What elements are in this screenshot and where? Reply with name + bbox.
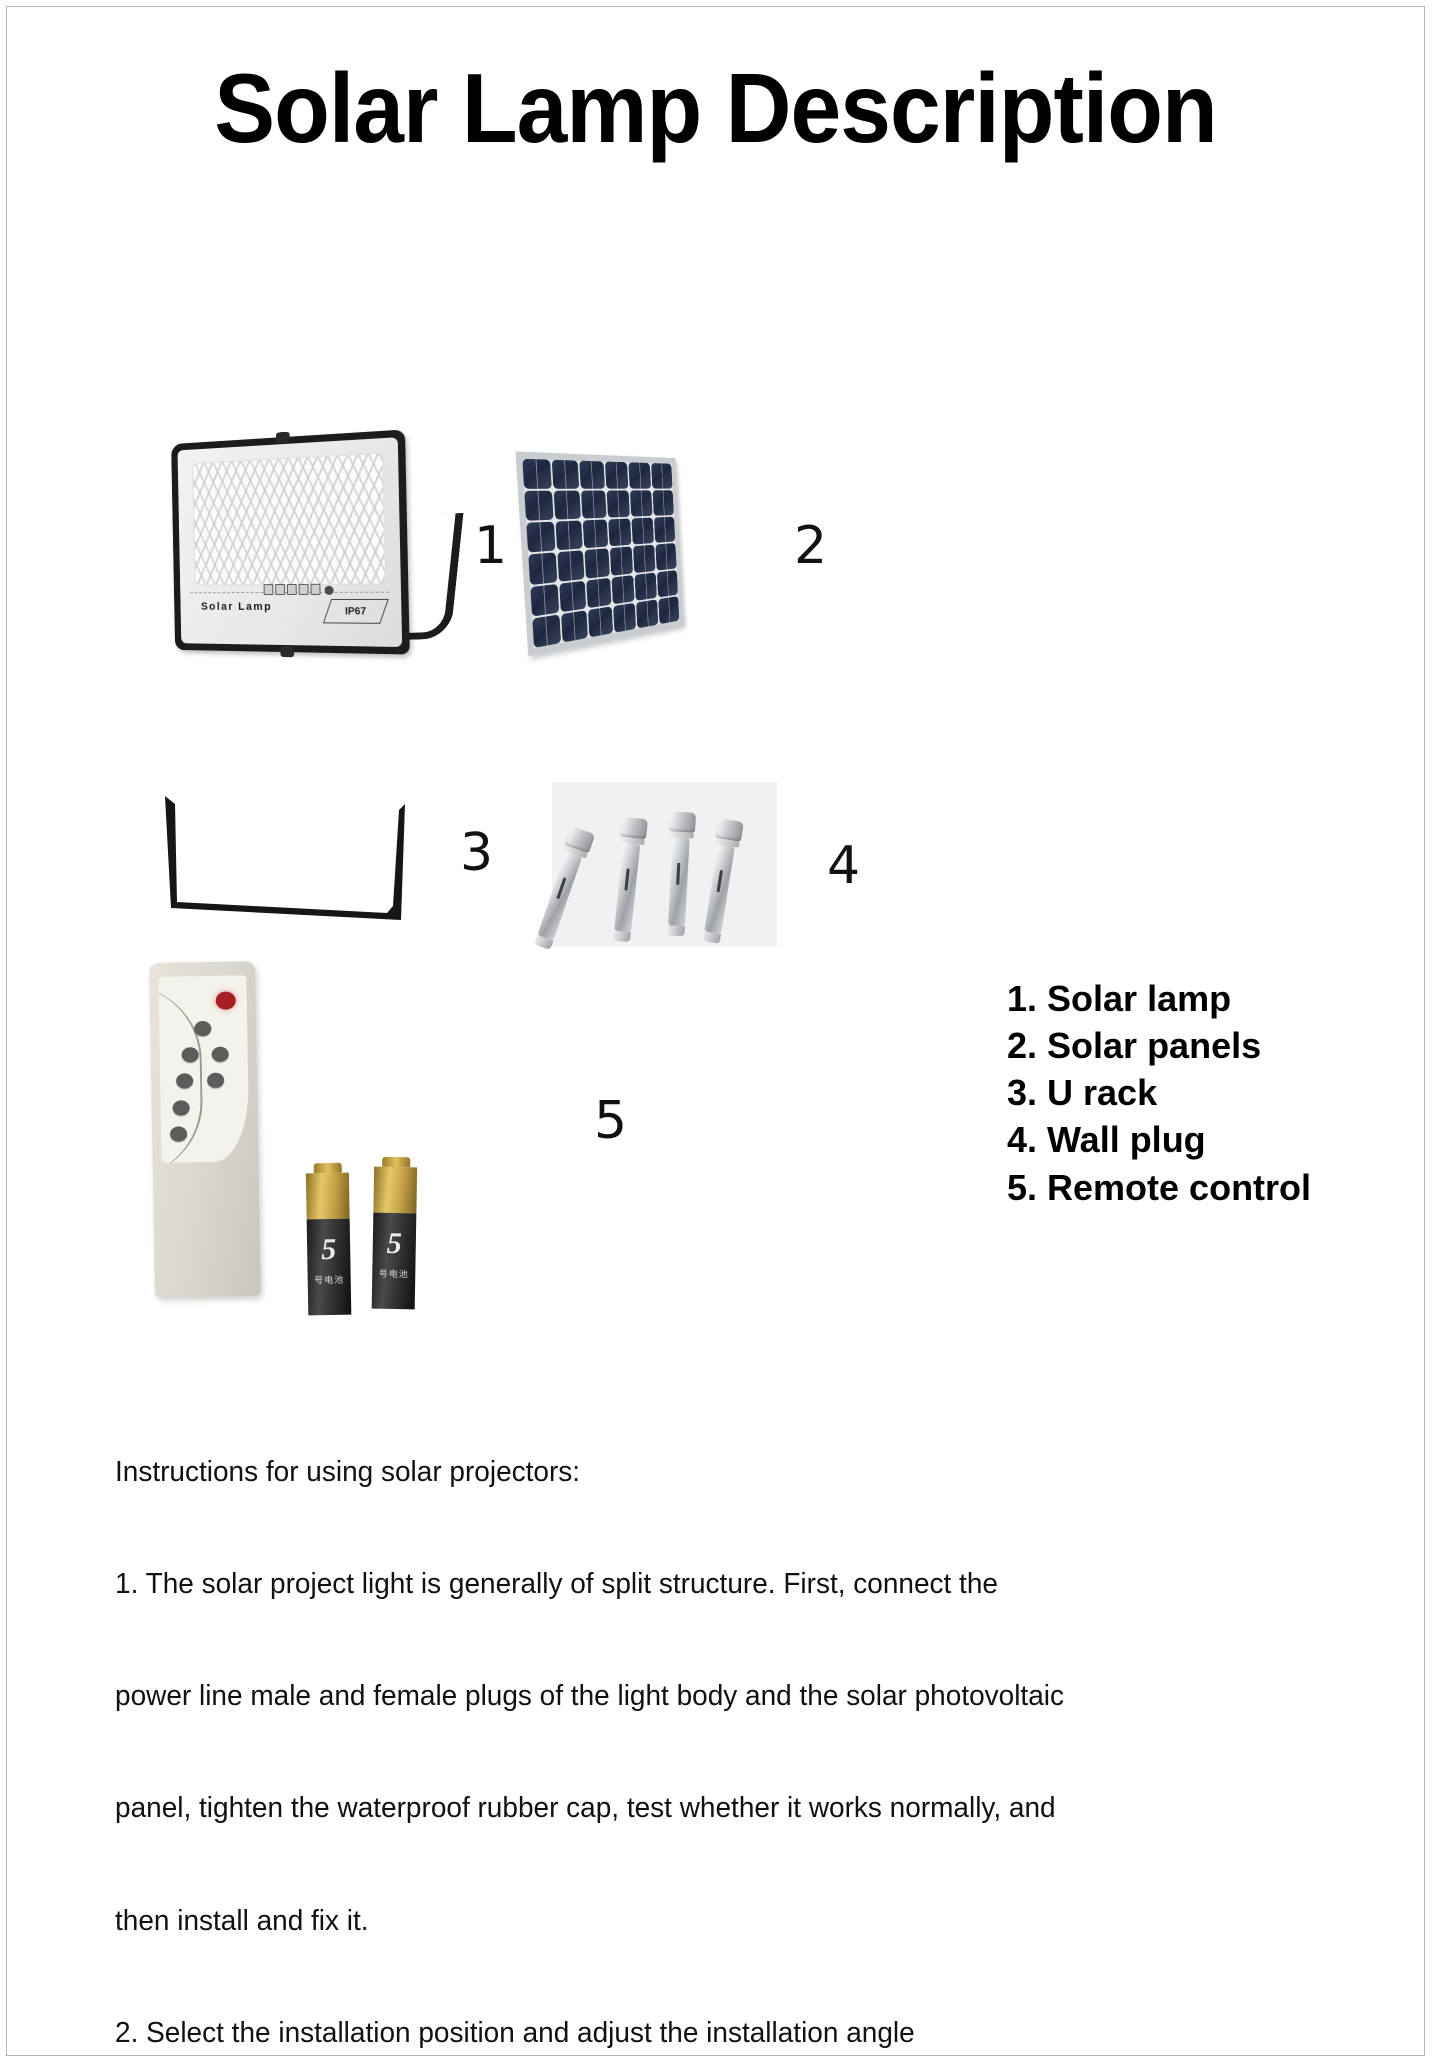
bolt-shaft: [537, 852, 582, 941]
battery-size-mark: 5: [373, 1229, 417, 1260]
solar-cell: [557, 551, 584, 582]
bolt-head: [619, 817, 647, 840]
remote-button: [194, 1021, 211, 1036]
solar-cell: [633, 545, 655, 573]
instructions-line: panel, tighten the waterproof rubber cap…: [115, 1790, 1326, 1827]
battery: 5 号电池: [306, 1163, 352, 1316]
solar-cell: [609, 547, 633, 576]
parts-legend-list: 1. Solar lamp 2. Solar panels 3. U rack …: [1007, 975, 1311, 1211]
battery-sub-mark: 号电池: [372, 1267, 415, 1281]
solar-cell: [630, 490, 653, 516]
instructions-line: 1. The solar project light is generally …: [115, 1566, 1326, 1603]
battery: 5 号电池: [372, 1157, 418, 1310]
solar-cell: [561, 610, 588, 642]
battery-gold-section: [306, 1173, 350, 1220]
battery-size-mark: 5: [307, 1235, 351, 1266]
solar-cell: [555, 521, 582, 551]
bolt-tip: [668, 925, 686, 936]
bolt-tip: [613, 930, 631, 942]
remote-button: [207, 1073, 224, 1088]
figure-label-4: 4: [827, 840, 860, 892]
battery-indicator-50-icon: [275, 584, 285, 595]
u-rack-image: [147, 782, 407, 932]
instructions-block: Instructions for using solar projectors:…: [115, 1379, 1326, 2056]
lamp-screw-bottom-icon: [280, 646, 294, 657]
solar-cell: [605, 462, 629, 489]
solar-cell: [559, 580, 586, 612]
instructions-line: then install and fix it.: [115, 1903, 1326, 1940]
remote-control-body: [149, 961, 261, 1298]
solar-cell: [611, 575, 635, 604]
battery-dark-section: 5 号电池: [372, 1213, 417, 1310]
solar-cell: [632, 518, 654, 545]
solar-cell: [528, 553, 557, 585]
figure-label-3: 3: [460, 827, 493, 879]
solar-cell: [606, 491, 630, 518]
solar-lamp-image: Solar Lamp IP67: [157, 427, 447, 692]
lamp-led-array: [192, 453, 386, 586]
solar-cell: [524, 491, 553, 521]
battery-cap: [313, 1163, 341, 1173]
remote-power-button: [216, 991, 236, 1009]
ip67-badge: IP67: [323, 599, 389, 624]
battery-indicator-25-icon: [264, 584, 274, 595]
instructions-heading: Instructions for using solar projectors:: [115, 1454, 1326, 1491]
instructions-line: power line male and female plugs of the …: [115, 1678, 1326, 1715]
legend-item-remote-control: 5. Remote control: [1007, 1164, 1311, 1211]
battery-cap: [382, 1157, 410, 1167]
battery-gold-section: [373, 1167, 417, 1214]
battery-dark-section: 5 号电池: [307, 1219, 352, 1316]
figure-label-1: 1: [474, 520, 507, 572]
instructions-line: 2. Select the installation position and …: [115, 2015, 1326, 2052]
figure-label-2: 2: [794, 520, 827, 572]
remote-batteries-image: 5 号电池 5 号电池: [307, 1157, 467, 1322]
legend-item-solar-panels: 2. Solar panels: [1007, 1022, 1311, 1069]
solar-cell: [657, 570, 678, 598]
remote-button-panel: [158, 975, 249, 1163]
solar-panel-image: [522, 452, 772, 697]
solar-cell: [635, 572, 657, 601]
solar-cell: [613, 603, 637, 633]
wall-plug-bolt: [534, 827, 590, 950]
lamp-brand-text: Solar Lamp: [201, 601, 272, 613]
solar-cell: [584, 549, 609, 579]
figure-label-5: 5: [594, 1095, 627, 1147]
solar-cell: [586, 578, 611, 609]
solar-cell: [654, 517, 675, 543]
light-sensor-icon: [325, 585, 334, 594]
wall-plug-image: [552, 782, 777, 947]
solar-cell: [629, 462, 652, 488]
page-title: Solar Lamp Description: [57, 59, 1375, 157]
solar-panel-frame: [516, 451, 684, 656]
battery-indicator-extra-icon: [311, 583, 321, 594]
lamp-battery-indicators: [264, 583, 334, 594]
lamp-face: Solar Lamp IP67: [178, 437, 403, 647]
battery-indicator-75-icon: [287, 584, 297, 595]
wall-plug-bolt: [703, 819, 739, 944]
document-page: Solar Lamp Description Solar Lamp: [6, 6, 1425, 2056]
solar-cell: [658, 596, 679, 624]
solar-cell: [582, 520, 607, 549]
solar-cell: [522, 459, 551, 489]
legend-item-solar-lamp: 1. Solar lamp: [1007, 975, 1311, 1022]
ip67-badge-label: IP67: [345, 605, 366, 616]
solar-cell: [651, 463, 672, 489]
solar-cell: [552, 460, 579, 489]
solar-cell: [579, 461, 605, 489]
wall-plug-bolt: [613, 817, 643, 942]
battery-indicator-100-icon: [299, 584, 309, 595]
bolt-shaft: [668, 838, 690, 927]
bolt-shaft: [614, 843, 640, 932]
legend-item-u-rack: 3. U rack: [1007, 1069, 1311, 1116]
u-rack-shape-icon: [147, 782, 407, 932]
solar-cell: [530, 584, 559, 617]
remote-button: [212, 1047, 229, 1062]
lamp-body: Solar Lamp IP67: [171, 429, 410, 654]
solar-cell: [581, 491, 607, 519]
solar-cell: [656, 543, 677, 570]
solar-cell: [526, 522, 555, 553]
solar-cell: [636, 599, 658, 628]
bolt-shaft: [704, 844, 735, 934]
solar-cell: [553, 491, 580, 520]
solar-panel-cell-grid: [522, 459, 679, 648]
wall-plug-bolt: [668, 812, 691, 937]
solar-cell: [588, 606, 613, 637]
legend-item-wall-plug: 4. Wall plug: [1007, 1116, 1311, 1163]
solar-cell: [608, 519, 632, 547]
bolt-head: [668, 811, 695, 832]
lamp-screw-top-icon: [276, 432, 290, 444]
solar-cell: [653, 490, 674, 516]
solar-cell: [532, 614, 561, 648]
battery-sub-mark: 号电池: [308, 1273, 351, 1287]
